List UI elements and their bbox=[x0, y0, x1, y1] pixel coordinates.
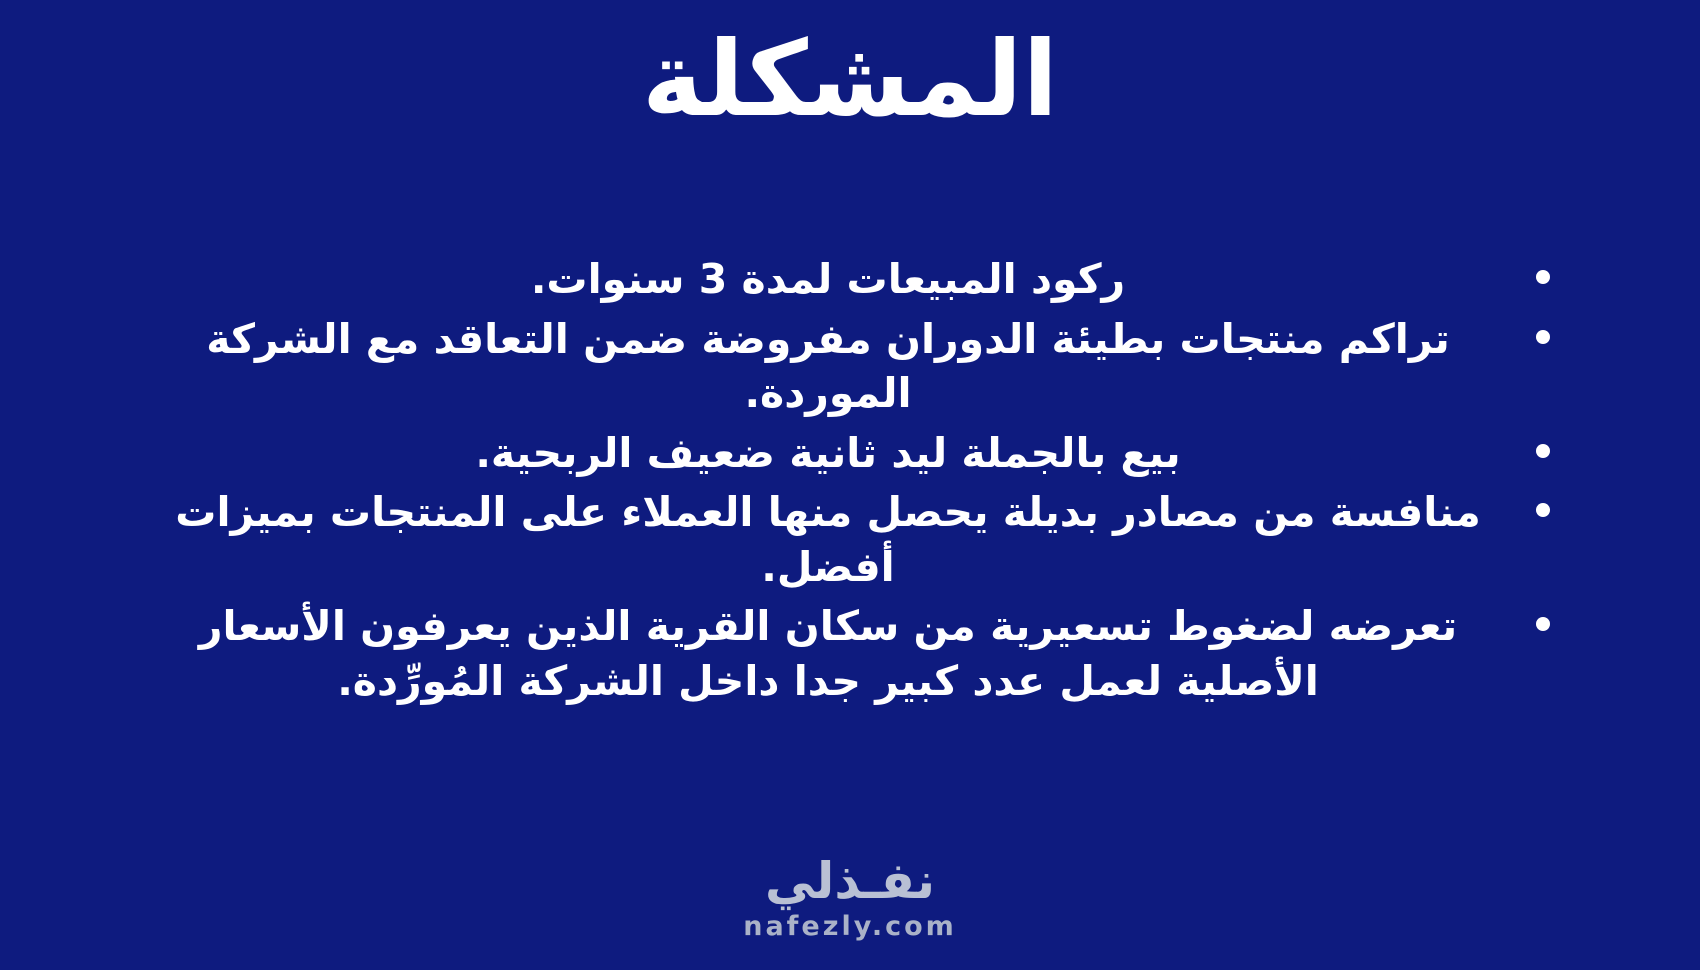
watermark-domain: nafezly.com bbox=[743, 911, 957, 942]
slide-canvas: المشكلة ركود المبيعات لمدة 3 سنوات. تراك… bbox=[0, 0, 1700, 970]
bullet-dot-icon bbox=[1536, 330, 1550, 344]
list-item: تعرضه لضغوط تسعيرية من سكان القرية الذين… bbox=[150, 599, 1550, 708]
page-title: المشكلة bbox=[642, 18, 1058, 141]
list-item-text: تعرضه لضغوط تسعيرية من سكان القرية الذين… bbox=[150, 599, 1506, 708]
problem-bullet-list: ركود المبيعات لمدة 3 سنوات. تراكم منتجات… bbox=[150, 252, 1550, 708]
bullet-dot-icon bbox=[1536, 444, 1550, 458]
list-item-text: بيع بالجملة ليد ثانية ضعيف الربحية. bbox=[150, 426, 1506, 481]
list-item: بيع بالجملة ليد ثانية ضعيف الربحية. bbox=[150, 426, 1550, 481]
list-item-text: منافسة من مصادر بديلة يحصل منها العملاء … bbox=[150, 485, 1506, 594]
bullet-dot-icon bbox=[1536, 503, 1550, 517]
list-item-text: تراكم منتجات بطيئة الدوران مفروضة ضمن ال… bbox=[150, 312, 1506, 421]
bullet-dot-icon bbox=[1536, 617, 1550, 631]
list-item: منافسة من مصادر بديلة يحصل منها العملاء … bbox=[150, 485, 1550, 594]
bullet-block: ركود المبيعات لمدة 3 سنوات. تراكم منتجات… bbox=[150, 252, 1550, 713]
list-item: تراكم منتجات بطيئة الدوران مفروضة ضمن ال… bbox=[150, 312, 1550, 421]
watermark-wordmark: نفـذلي bbox=[765, 855, 935, 908]
list-item-text: ركود المبيعات لمدة 3 سنوات. bbox=[150, 252, 1506, 307]
list-item: ركود المبيعات لمدة 3 سنوات. bbox=[150, 252, 1550, 307]
bullet-dot-icon bbox=[1536, 270, 1550, 284]
watermark-logo: نفـذلي nafezly.com bbox=[0, 855, 1700, 943]
